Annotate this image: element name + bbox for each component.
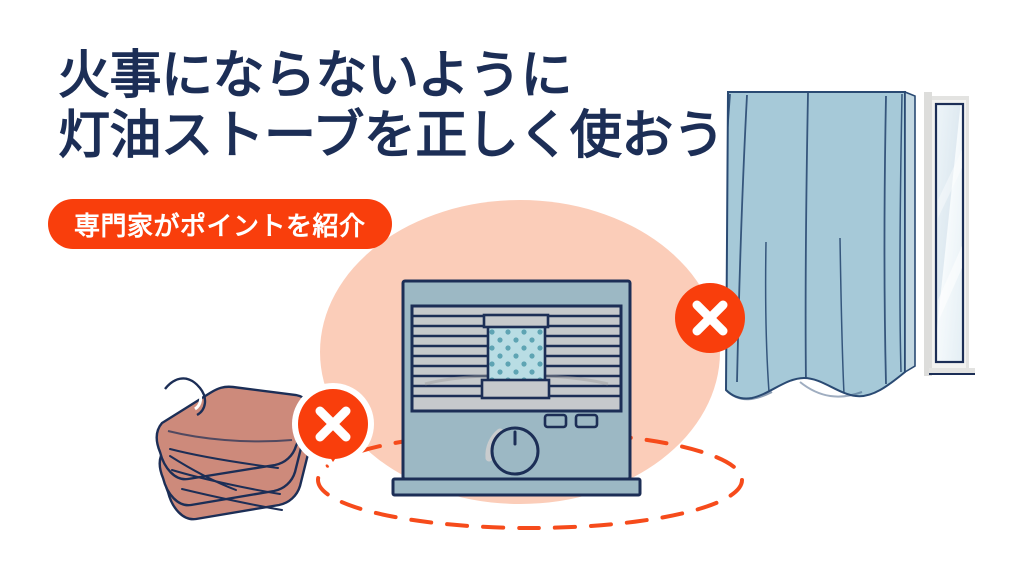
kerosene-stove	[393, 281, 640, 495]
stove-burner	[482, 315, 549, 398]
stacked-bedding	[157, 378, 314, 519]
headline-line-2: 灯油ストーブを正しく使おう	[58, 106, 724, 166]
banner-root: 火事にならないように 灯油ストーブを正しく使おう 専門家がポイントを紹介	[0, 0, 1024, 568]
marker-curtain[interactable]	[675, 283, 745, 353]
status-badge[interactable]: 専門家がポイントを紹介	[48, 199, 392, 249]
stove-button-2	[576, 415, 597, 427]
window-curtain	[716, 92, 915, 399]
stove-button-1	[545, 415, 566, 427]
stove-base	[393, 479, 640, 495]
window-frame	[924, 92, 975, 376]
headline-line-1: 火事にならないように	[58, 46, 724, 106]
page-title: 火事にならないように 灯油ストーブを正しく使おう	[58, 46, 724, 167]
